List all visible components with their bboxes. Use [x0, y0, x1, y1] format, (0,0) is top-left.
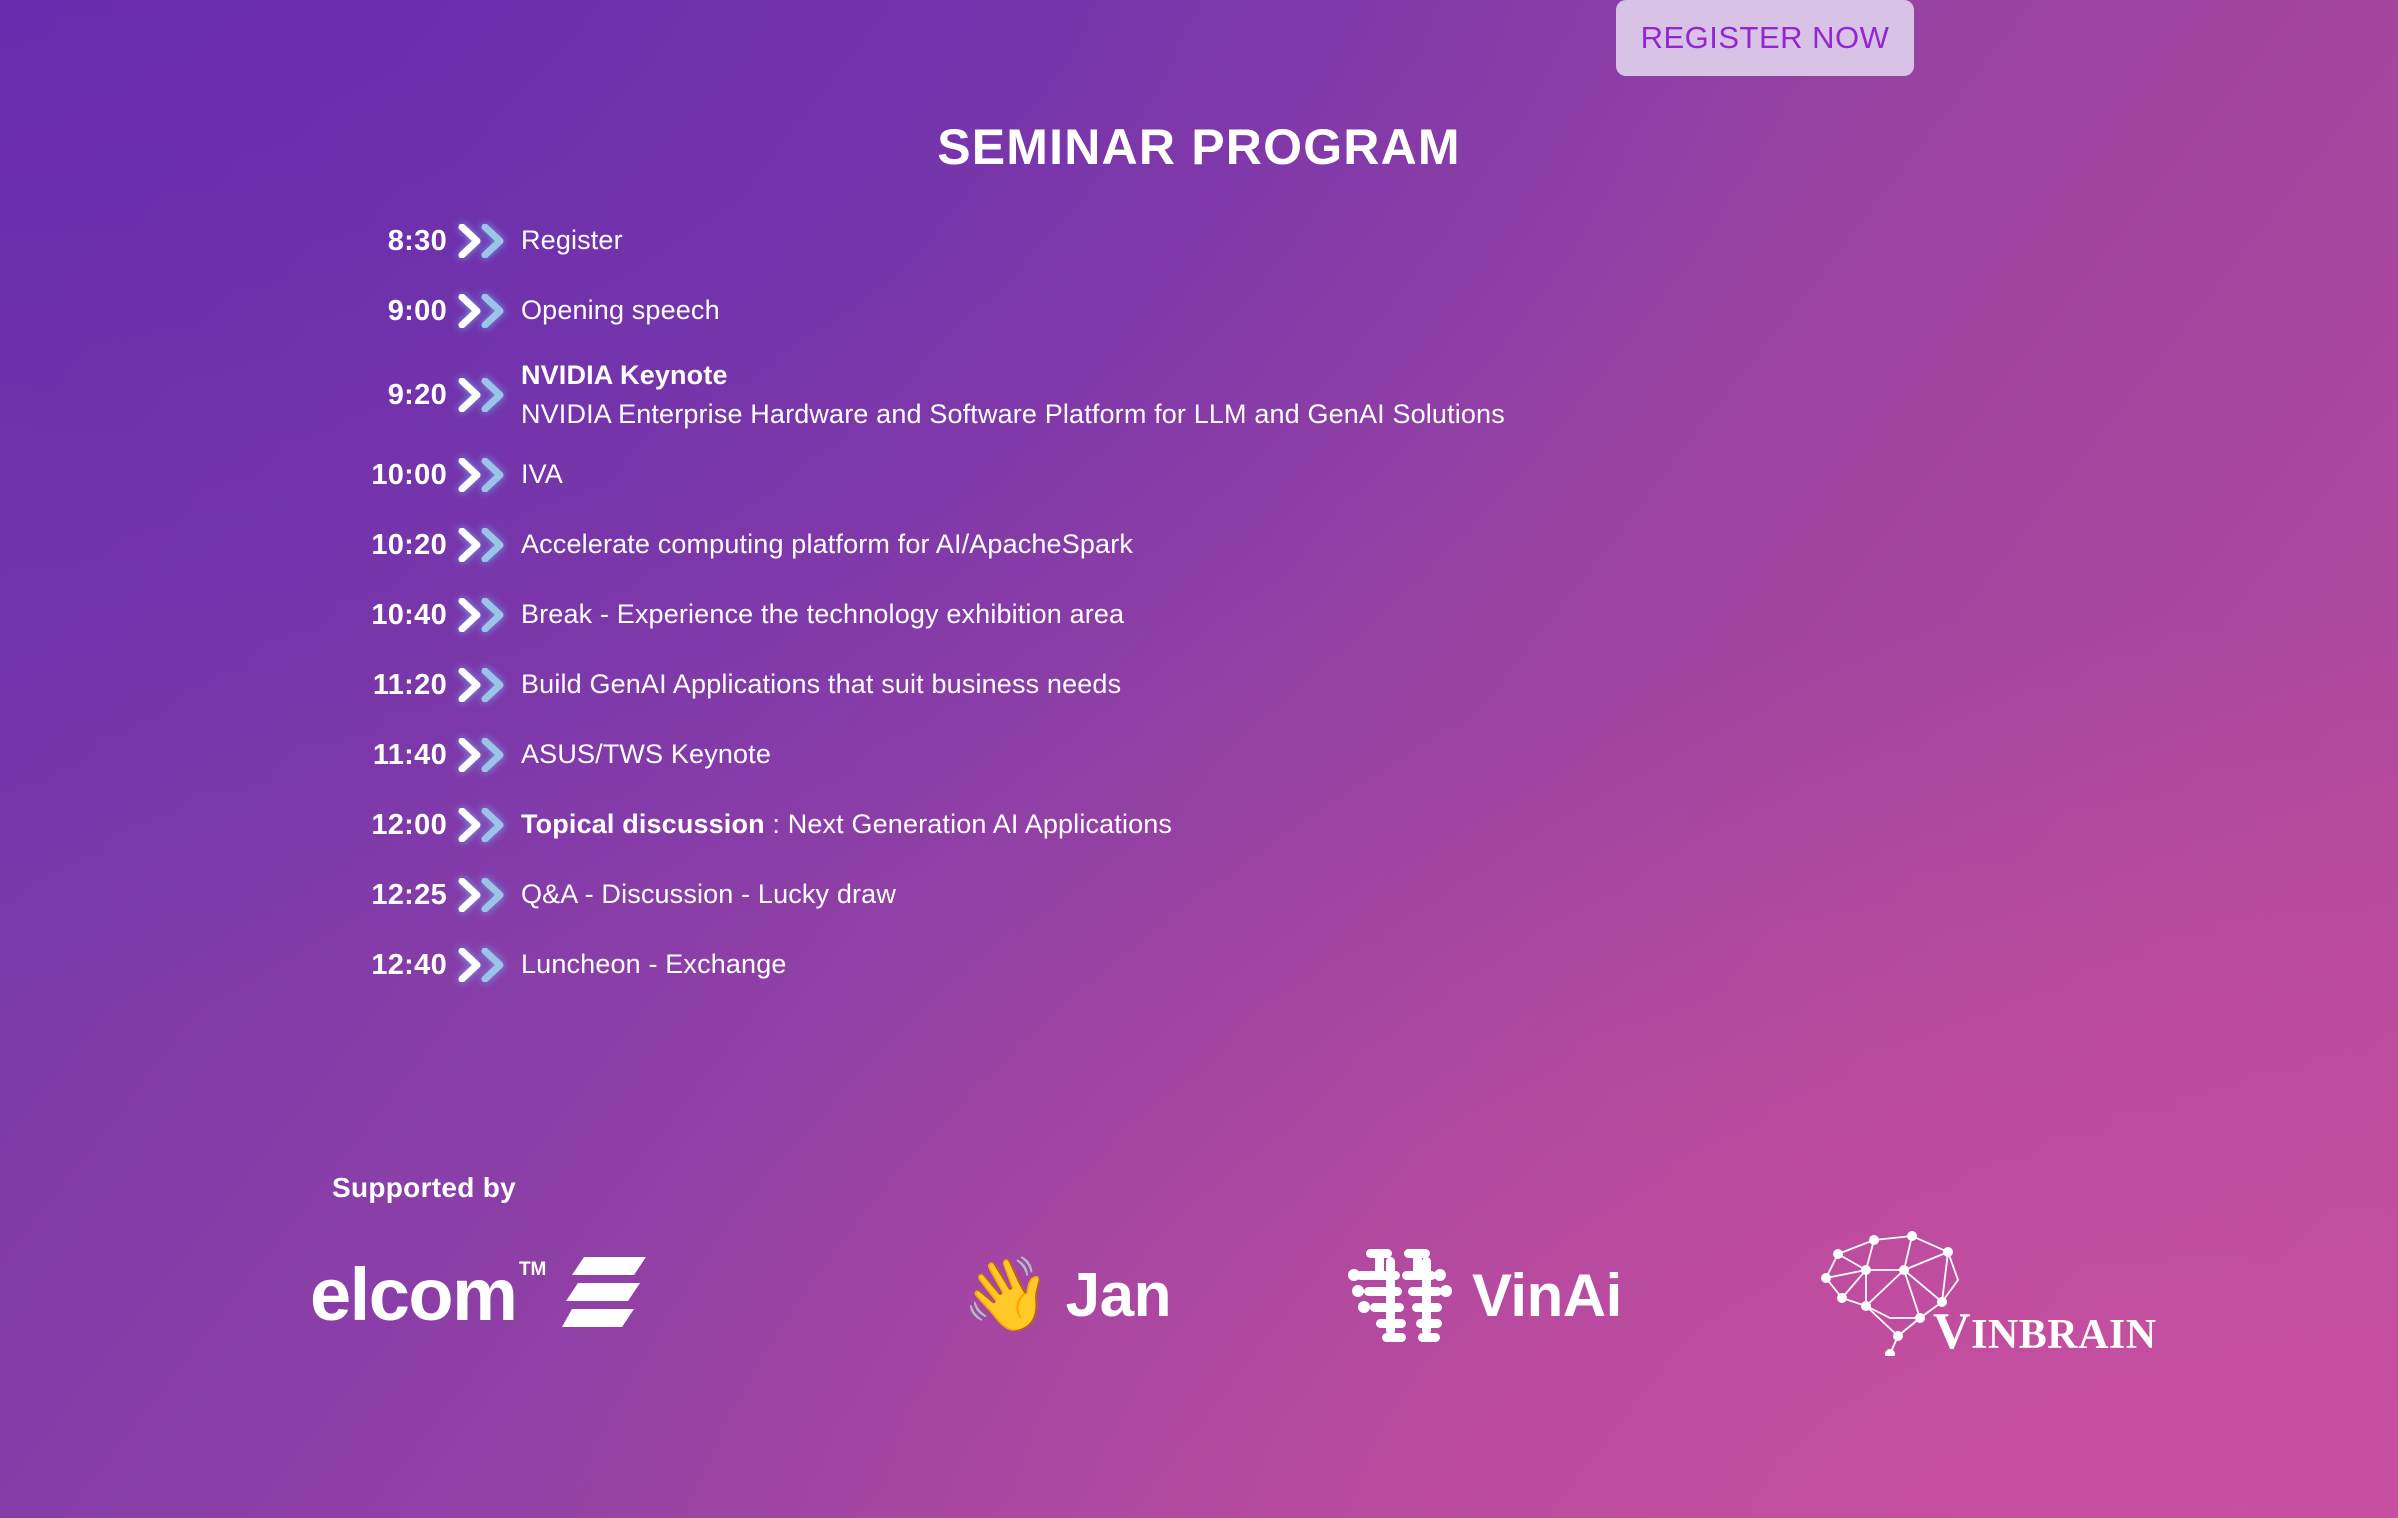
double-chevron-right-icon: [447, 948, 519, 982]
schedule-row: 12:40Luncheon - Exchange: [332, 939, 2032, 991]
sponsor-logo-vinai: VinAi: [1170, 1239, 1640, 1352]
schedule-row-title: Build GenAI Applications that suit busin…: [521, 669, 1121, 699]
schedule-row-title: Q&A - Discussion - Lucky draw: [521, 879, 896, 909]
schedule-row-title: Break - Experience the technology exhibi…: [521, 599, 1124, 629]
schedule-row-title: Opening speech: [521, 295, 720, 325]
schedule-row: 10:00IVA: [332, 449, 2032, 501]
double-chevron-right-icon: [447, 294, 519, 328]
sponsor-logos: elcom TM 👋 Jan: [310, 1225, 2110, 1365]
schedule-row-title: IVA: [521, 459, 563, 489]
double-chevron-right-icon: [447, 878, 519, 912]
elcom-e-mark-icon: [562, 1255, 646, 1336]
sponsor-logo-vinbrain: VINBRAIN: [1640, 1230, 2100, 1360]
schedule-row-title: Register: [521, 225, 623, 255]
schedule-row: 10:40Break - Experience the technology e…: [332, 589, 2032, 641]
double-chevron-right-icon: [447, 224, 519, 258]
schedule-row-title-trailing: : Next Generation AI Applications: [765, 809, 1172, 839]
schedule-row-description: Accelerate computing platform for AI/Apa…: [519, 525, 1133, 564]
schedule-row: 11:20Build GenAI Applications that suit …: [332, 659, 2032, 711]
schedule-row-title: Topical discussion: [521, 809, 765, 839]
schedule-row-time: 9:20: [332, 379, 447, 412]
schedule-row-description: NVIDIA KeynoteNVIDIA Enterprise Hardware…: [519, 356, 1505, 434]
schedule-row-time: 10:00: [332, 459, 447, 492]
schedule-row-time: 12:25: [332, 879, 447, 912]
double-chevron-right-icon: [447, 528, 519, 562]
schedule-row-description: Register: [519, 221, 623, 260]
vinai-wordmark: VinAi: [1472, 1261, 1622, 1330]
schedule-row: 8:30Register: [332, 215, 2032, 267]
elcom-wordmark: elcom TM: [310, 1258, 516, 1332]
elcom-trademark-symbol: TM: [519, 1260, 546, 1279]
schedule-row-time: 11:40: [332, 739, 447, 772]
register-now-button[interactable]: REGISTER NOW: [1616, 0, 1914, 76]
schedule-row-time: 11:20: [332, 669, 447, 702]
schedule-row-description: Topical discussion : Next Generation AI …: [519, 805, 1172, 844]
schedule-row-time: 10:40: [332, 599, 447, 632]
schedule-row: 12:25Q&A - Discussion - Lucky draw: [332, 869, 2032, 921]
schedule-row-description: Luncheon - Exchange: [519, 945, 787, 984]
schedule-row-title: Accelerate computing platform for AI/Apa…: [521, 529, 1133, 559]
jan-wordmark: Jan: [1066, 1260, 1171, 1331]
page-title: SEMINAR PROGRAM: [0, 118, 2398, 176]
schedule-row-description: Break - Experience the technology exhibi…: [519, 595, 1124, 634]
sponsor-logo-jan: 👋 Jan: [740, 1259, 1170, 1331]
supported-by-label: Supported by: [332, 1172, 516, 1204]
double-chevron-right-icon: [447, 808, 519, 842]
double-chevron-right-icon: [447, 378, 519, 412]
schedule-row-time: 10:20: [332, 529, 447, 562]
schedule-row-title: Luncheon - Exchange: [521, 949, 787, 979]
schedule-row: 11:40ASUS/TWS Keynote: [332, 729, 2032, 781]
vinai-circuit-mark-icon: [1342, 1239, 1458, 1352]
vinbrain-wordmark-cap: V: [1933, 1303, 1971, 1360]
register-button-container: REGISTER NOW: [1616, 0, 1914, 76]
schedule-row: 12:00Topical discussion : Next Generatio…: [332, 799, 2032, 851]
schedule-row: 10:20Accelerate computing platform for A…: [332, 519, 2032, 571]
schedule-row-title: NVIDIA Keynote: [521, 360, 728, 390]
double-chevron-right-icon: [447, 598, 519, 632]
sponsor-logo-elcom: elcom TM: [310, 1255, 740, 1336]
waving-hand-icon: 👋: [962, 1259, 1052, 1331]
schedule-row-description: Build GenAI Applications that suit busin…: [519, 665, 1121, 704]
double-chevron-right-icon: [447, 738, 519, 772]
vinbrain-wordmark: VINBRAIN: [1933, 1302, 2157, 1361]
schedule-row-title: ASUS/TWS Keynote: [521, 739, 771, 769]
double-chevron-right-icon: [447, 458, 519, 492]
schedule-row-description: Opening speech: [519, 291, 720, 330]
seminar-schedule-list: 8:30Register9:00Opening speech9:20NVIDIA…: [332, 215, 2032, 1009]
schedule-row-time: 9:00: [332, 295, 447, 328]
schedule-row-time: 12:40: [332, 949, 447, 982]
vinbrain-wordmark-rest: INBRAIN: [1971, 1312, 2157, 1358]
double-chevron-right-icon: [447, 668, 519, 702]
schedule-row: 9:20NVIDIA KeynoteNVIDIA Enterprise Hard…: [332, 355, 2032, 435]
schedule-row: 9:00Opening speech: [332, 285, 2032, 337]
elcom-wordmark-text: elcom: [310, 1253, 516, 1336]
schedule-row-time: 12:00: [332, 809, 447, 842]
schedule-row-description: ASUS/TWS Keynote: [519, 735, 771, 774]
schedule-row-time: 8:30: [332, 225, 447, 258]
schedule-row-description: Q&A - Discussion - Lucky draw: [519, 875, 896, 914]
schedule-row-subtitle: NVIDIA Enterprise Hardware and Software …: [521, 395, 1505, 434]
schedule-row-description: IVA: [519, 455, 563, 494]
